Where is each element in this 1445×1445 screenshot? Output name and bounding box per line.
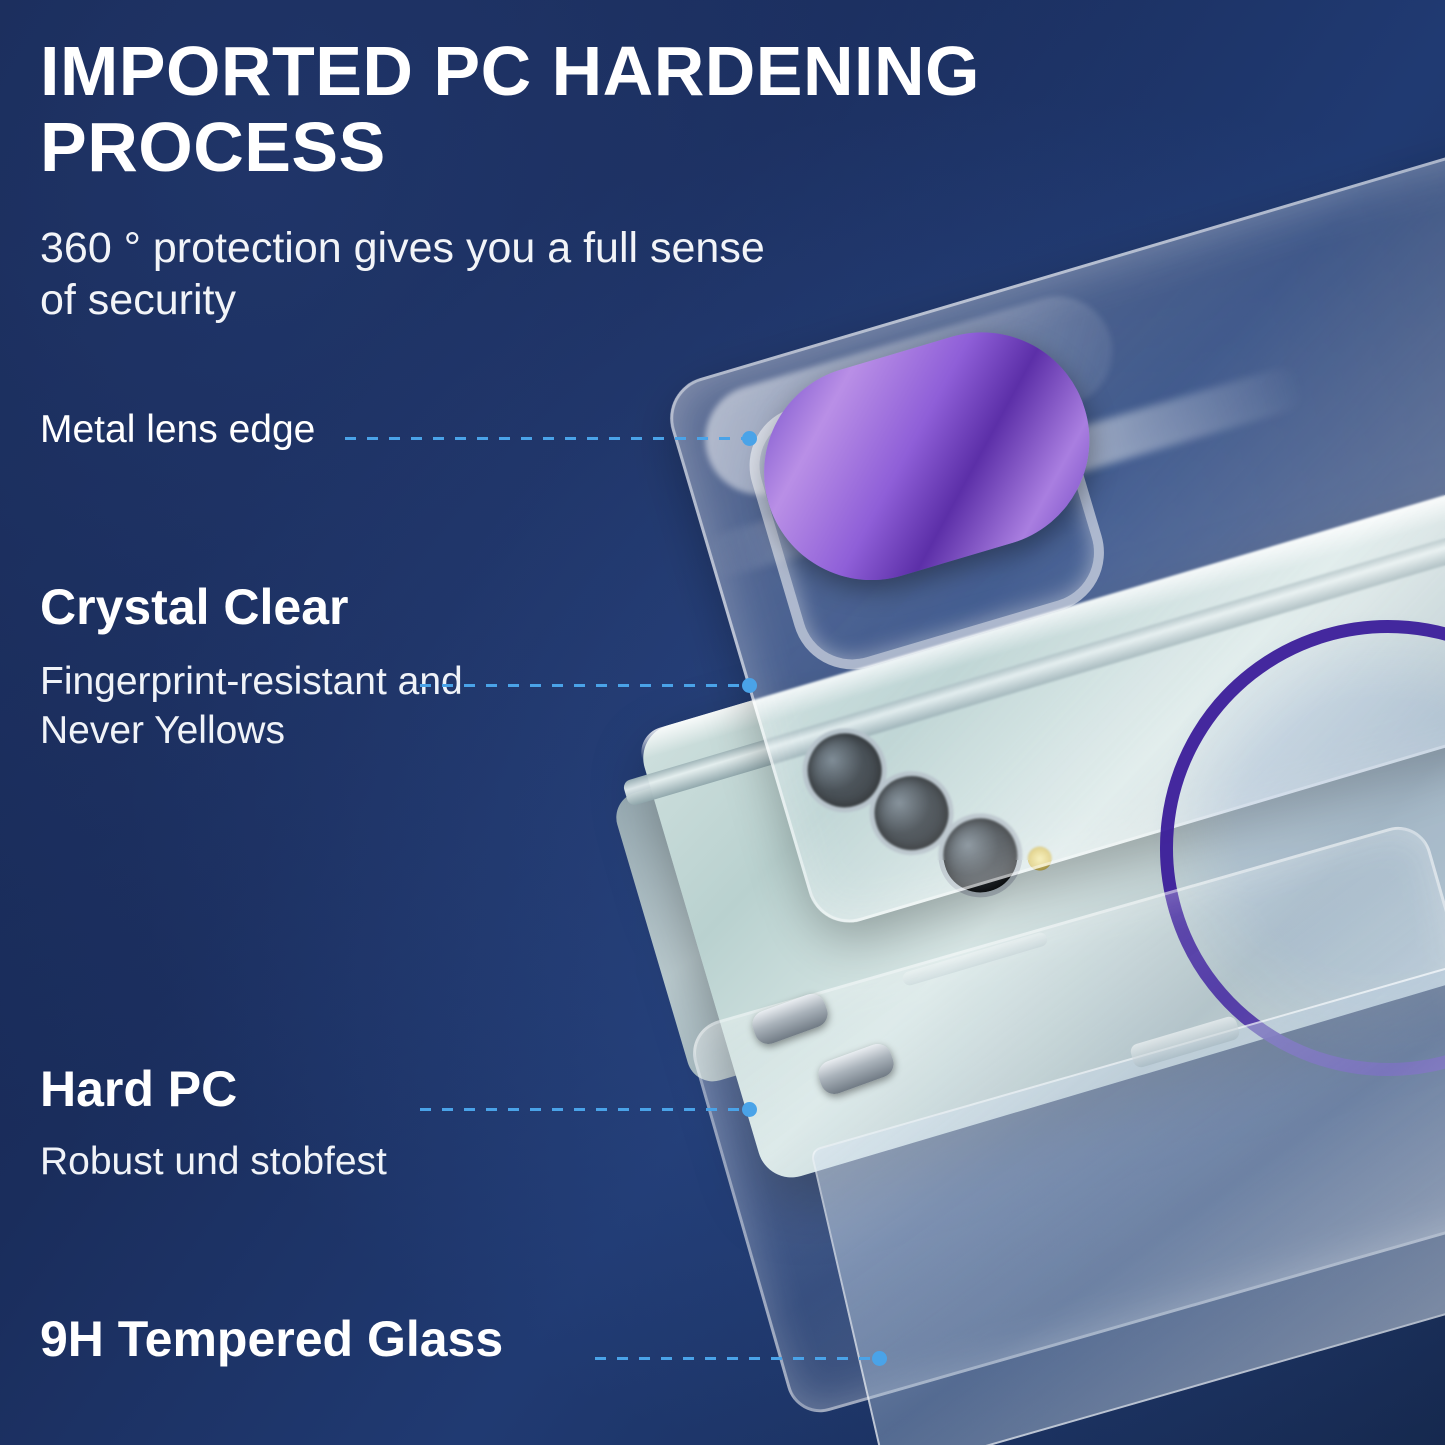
leader-dot-metal-lens-edge xyxy=(742,431,757,446)
leader-line-9h-tempered-glass xyxy=(595,1357,880,1360)
leader-line-hard-pc xyxy=(420,1108,750,1111)
leader-line-crystal-clear xyxy=(420,684,750,687)
feature-label-9h-tempered-glass: 9H Tempered Glass xyxy=(40,1310,503,1368)
page-subtitle: 360 ° protection gives you a full sense … xyxy=(40,222,800,327)
feature-sublabel-hard-pc: Robust und stobfest xyxy=(40,1140,387,1184)
leader-dot-hard-pc xyxy=(742,1102,757,1117)
feature-label-metal-lens-edge: Metal lens edge xyxy=(40,408,315,452)
feature-sublabel-crystal-clear: Fingerprint-resistant and Never Yellows xyxy=(40,658,560,756)
product-photo xyxy=(600,330,1445,1445)
page-title: IMPORTED PC HARDENING PROCESS xyxy=(40,34,1170,185)
leader-line-metal-lens-edge xyxy=(345,437,750,440)
product-infographic: IMPORTED PC HARDENING PROCESS 360 ° prot… xyxy=(0,0,1445,1445)
leader-dot-9h-tempered-glass xyxy=(872,1351,887,1366)
leader-dot-crystal-clear xyxy=(742,678,757,693)
feature-label-crystal-clear: Crystal Clear xyxy=(40,578,349,636)
feature-label-hard-pc: Hard PC xyxy=(40,1060,237,1118)
